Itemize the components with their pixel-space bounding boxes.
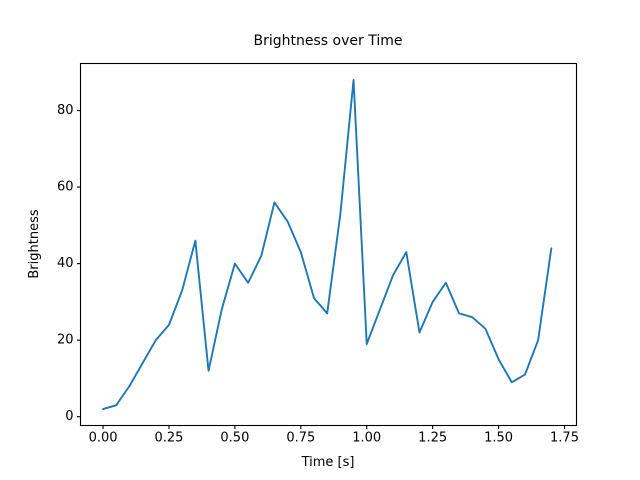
x-tick-label: 0.25 — [154, 430, 183, 445]
x-tick-label: 0.00 — [89, 430, 118, 445]
figure-background — [0, 0, 640, 480]
y-tick-label: 0 — [65, 409, 73, 424]
y-tick-label: 20 — [57, 333, 74, 348]
y-tick-label: 40 — [57, 256, 74, 271]
x-tick-label: 1.00 — [352, 430, 381, 445]
brightness-line-chart: Brightness over Time 0.000.250.500.751.0… — [0, 0, 640, 480]
x-tick-label: 1.50 — [484, 430, 513, 445]
y-tick-label: 60 — [57, 180, 74, 195]
x-tick-label: 1.25 — [418, 430, 447, 445]
x-tick-label: 0.50 — [220, 430, 249, 445]
x-tick-label: 0.75 — [286, 430, 315, 445]
chart-title: Brightness over Time — [254, 33, 403, 49]
y-tick-label: 80 — [57, 103, 74, 118]
y-axis-title: Brightness — [27, 209, 42, 278]
x-axis-title: Time [s] — [301, 455, 355, 470]
figure-canvas: Brightness over Time 0.000.250.500.751.0… — [0, 0, 640, 480]
x-tick-label: 1.75 — [550, 430, 579, 445]
